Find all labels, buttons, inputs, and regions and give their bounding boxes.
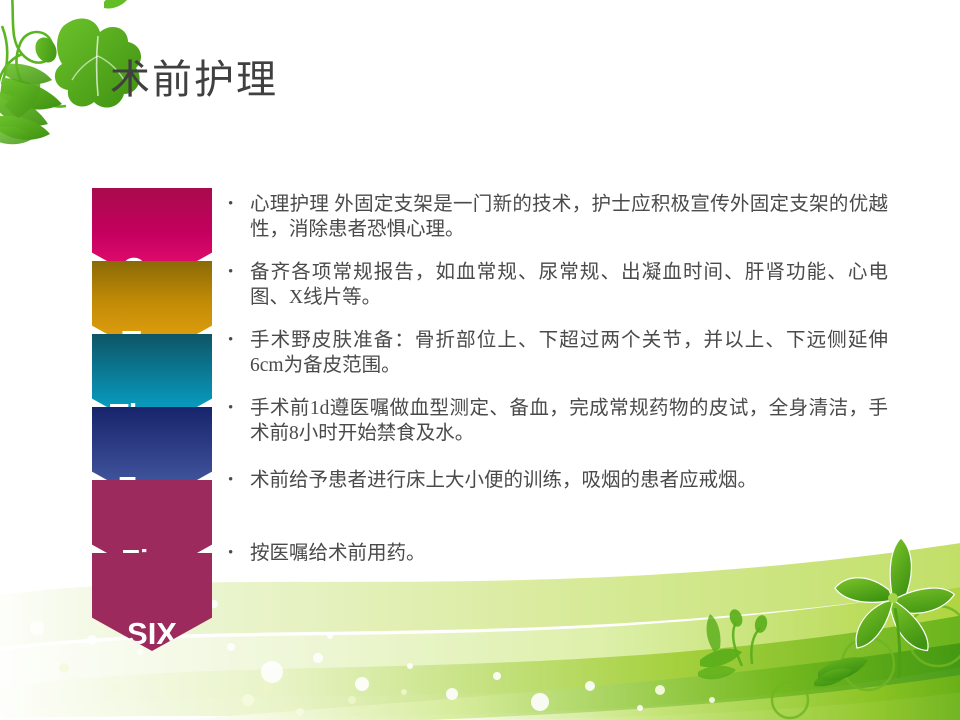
chevron-step-six[interactable]: SIX (92, 553, 212, 651)
list-item: • 按医嘱给术前用药。 (228, 541, 888, 566)
list-item-text: 备齐各项常规报告，如血常规、尿常规、出凝血时间、肝肾功能、心电图、X线片等。 (250, 260, 888, 310)
bullet-dot-icon: • (228, 541, 250, 566)
list-item-text: 手术前1d遵医嘱做血型测定、备血，完成常规药物的皮试，全身清洁，手术前8小时开始… (250, 396, 888, 446)
page-title: 术前护理 (110, 57, 278, 103)
list-item: • 备齐各项常规报告，如血常规、尿常规、出凝血时间、肝肾功能、心电图、X线片等。 (228, 260, 888, 310)
bullet-dot-icon: • (228, 260, 250, 285)
list-item: • 手术前1d遵医嘱做血型测定、备血，完成常规药物的皮试，全身清洁，手术前8小时… (228, 396, 888, 446)
chevron-label: SIX (127, 618, 177, 651)
list-item-text: 心理护理 外固定支架是一门新的技术，护士应积极宣传外固定支架的优越性，消除患者恐… (250, 192, 888, 242)
bullet-dot-icon: • (228, 468, 250, 493)
list-item-text: 手术野皮肤准备：骨折部位上、下超过两个关节，并以上、下远侧延伸6cm为备皮范围。 (250, 328, 888, 378)
bullet-dot-icon: • (228, 328, 250, 353)
list-item: • 心理护理 外固定支架是一门新的技术，护士应积极宣传外固定支架的优越性，消除患… (228, 192, 888, 242)
list-item-text: 术前给予患者进行床上大小便的训练，吸烟的患者应戒烟。 (250, 468, 888, 493)
chevron-step-list: One Two Three Four Five SIX (92, 188, 212, 638)
slide-canvas: 术前护理 One Two Three Four Five SIX • 心理护理 … (0, 0, 960, 720)
bullet-dot-icon: • (228, 192, 250, 217)
list-item-text: 按医嘱给术前用药。 (250, 541, 888, 566)
bullet-dot-icon: • (228, 396, 250, 421)
list-item: • 术前给予患者进行床上大小便的训练，吸烟的患者应戒烟。 (228, 468, 888, 493)
list-item: • 手术野皮肤准备：骨折部位上、下超过两个关节，并以上、下远侧延伸6cm为备皮范… (228, 328, 888, 378)
bullet-list: • 心理护理 外固定支架是一门新的技术，护士应积极宣传外固定支架的优越性，消除患… (228, 192, 888, 566)
